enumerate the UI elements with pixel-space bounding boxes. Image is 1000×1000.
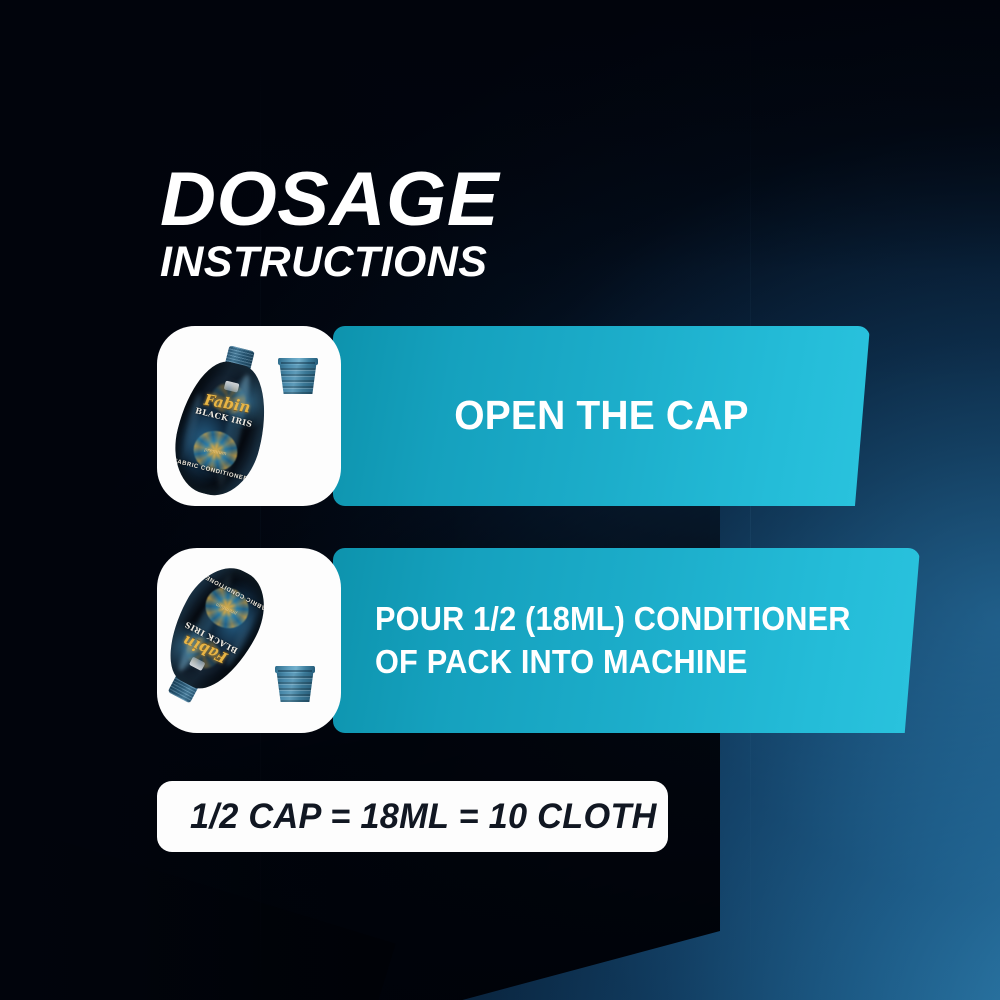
conditioner-bottle-pouring-icon: Fabin BLACK IRIS premium FABRIC CONDITIO… bbox=[157, 556, 279, 716]
step-2-text-line-2: OF PACK INTO MACHINE bbox=[375, 641, 851, 683]
instruction-step-1: OPEN THE CAP Fabin BLACK IRIS premium FA… bbox=[157, 326, 870, 506]
cap-rim bbox=[278, 358, 318, 365]
step-1-text: OPEN THE CAP bbox=[346, 394, 856, 437]
bottle-cap-icon bbox=[278, 358, 318, 394]
bottle-cap-icon bbox=[275, 666, 315, 702]
step-2-text: POUR 1/2 (18ML) CONDITIONER OF PACK INTO… bbox=[375, 598, 851, 682]
step-2-text-line-1: POUR 1/2 (18ML) CONDITIONER bbox=[375, 598, 851, 640]
instruction-step-2: POUR 1/2 (18ML) CONDITIONER OF PACK INTO… bbox=[157, 548, 920, 733]
step-2-product-card: Fabin BLACK IRIS premium FABRIC CONDITIO… bbox=[157, 548, 341, 733]
step-2-banner: POUR 1/2 (18ML) CONDITIONER OF PACK INTO… bbox=[333, 548, 920, 733]
step-1-banner: OPEN THE CAP bbox=[333, 326, 870, 506]
title-primary: DOSAGE bbox=[160, 165, 499, 235]
step-1-text-line-1: OPEN THE CAP bbox=[346, 394, 856, 437]
dosage-instructions-infographic: DOSAGE INSTRUCTIONS OPEN THE CAP Fabin B… bbox=[0, 0, 1000, 1000]
cap-rim bbox=[275, 666, 315, 673]
step-1-product-card: Fabin BLACK IRIS premium FABRIC CONDITIO… bbox=[157, 326, 341, 506]
conditioner-bottle-icon: Fabin BLACK IRIS premium FABRIC CONDITIO… bbox=[164, 338, 282, 504]
page-title: DOSAGE INSTRUCTIONS bbox=[160, 165, 492, 284]
dosage-equivalence-text: 1/2 CAP = 18ML = 10 CLOTH bbox=[190, 797, 657, 837]
title-secondary: INSTRUCTIONS bbox=[160, 241, 492, 284]
dosage-equivalence-note: 1/2 CAP = 18ML = 10 CLOTH bbox=[157, 781, 668, 852]
bottle-body: Fabin BLACK IRIS premium FABRIC CONDITIO… bbox=[164, 354, 278, 504]
